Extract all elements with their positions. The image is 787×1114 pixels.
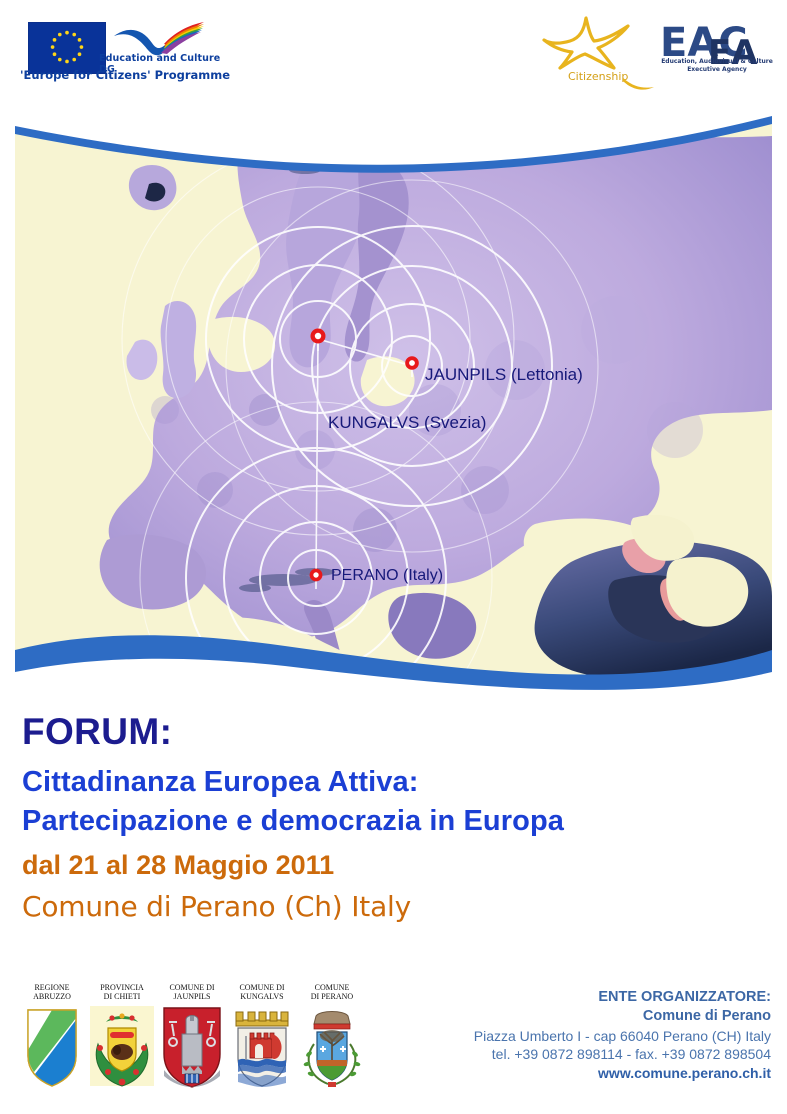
crest-caption: COMUNE DIKUNGALVS xyxy=(228,984,296,1004)
organizer-website[interactable]: www.comune.perano.ch.it xyxy=(341,1064,771,1083)
jaunpils-shield-icon xyxy=(158,1004,226,1088)
header-logos: Education and Culture DG 'Europe for Cit… xyxy=(0,0,787,108)
organizer-label: ENTE ORGANIZZATORE: xyxy=(341,988,771,1007)
subtitle-line-1: Cittadinanza Europea Attiva: xyxy=(22,764,762,801)
location-pin-icon xyxy=(402,354,422,378)
abruzzo-shield-icon xyxy=(18,1004,86,1088)
eacea-subtitle-line1: Education, Audiovisual & Culture xyxy=(657,58,777,65)
chieti-shield-icon xyxy=(88,1004,156,1088)
partner-crests: REGIONEABRUZZO PROVINCIADI CHIETI xyxy=(18,984,368,1090)
citizenship-star-icon xyxy=(540,14,632,70)
europe-for-citizens-programme-label: 'Europe for Citizens' Programme xyxy=(20,68,250,82)
eu-stars-icon xyxy=(29,23,105,73)
map-label-kungalvs: KUNGALVS (Svezia) xyxy=(328,413,486,433)
crest-comune-di-kungalvs: COMUNE DIKUNGALVS xyxy=(228,984,296,1090)
europe-satellite-map xyxy=(15,110,772,705)
organizer-address: Piazza Umberto I - cap 66040 Perano (CH)… xyxy=(341,1027,771,1046)
citizenship-label: Citizenship xyxy=(568,70,628,83)
citizenship-swoosh-icon xyxy=(622,76,656,92)
citizenship-logo: Citizenship xyxy=(540,14,650,92)
poster-title-block: FORUM: Cittadinanza Europea Attiva: Part… xyxy=(22,712,762,925)
page-title: FORUM: xyxy=(22,712,762,752)
organizer-phone: tel. +39 0872 898114 - fax. +39 0872 898… xyxy=(341,1045,771,1064)
event-dates: dal 21 al 28 Maggio 2011 xyxy=(22,848,762,883)
crest-regione-abruzzo: REGIONEABRUZZO xyxy=(18,984,86,1090)
crest-caption: COMUNE DIJAUNPILS xyxy=(158,984,226,1004)
kungalvs-shield-icon xyxy=(228,1004,296,1088)
subtitle-line-2: Partecipazione e democrazia in Europa xyxy=(22,803,762,840)
event-location: Comune di Perano (Ch) Italy xyxy=(22,889,762,925)
map-label-jaunpils: JAUNPILS (Lettonia) xyxy=(425,365,583,385)
eacea-subtitle-line2: Executive Agency xyxy=(657,66,777,73)
crest-comune-di-jaunpils: COMUNE DIJAUNPILS xyxy=(158,984,226,1090)
organizer-name: Comune di Perano xyxy=(341,1007,771,1026)
location-pin-icon xyxy=(307,326,329,352)
location-pin-icon xyxy=(306,566,326,590)
crest-provincia-di-chieti: PROVINCIADI CHIETI xyxy=(88,984,156,1090)
crest-caption: PROVINCIADI CHIETI xyxy=(88,984,156,1004)
map-label-perano: PERANO (Italy) xyxy=(331,567,443,585)
european-union-flag-icon xyxy=(28,22,106,74)
eacea-logo-icon: EAC EA xyxy=(660,16,775,86)
crest-caption: REGIONEABRUZZO xyxy=(18,984,86,1004)
europe-map-panel: KUNGALVS (Svezia) JAUNPILS (Lettonia) PE… xyxy=(15,110,772,705)
organizer-contact-block: ENTE ORGANIZZATORE: Comune di Perano Pia… xyxy=(341,988,771,1082)
